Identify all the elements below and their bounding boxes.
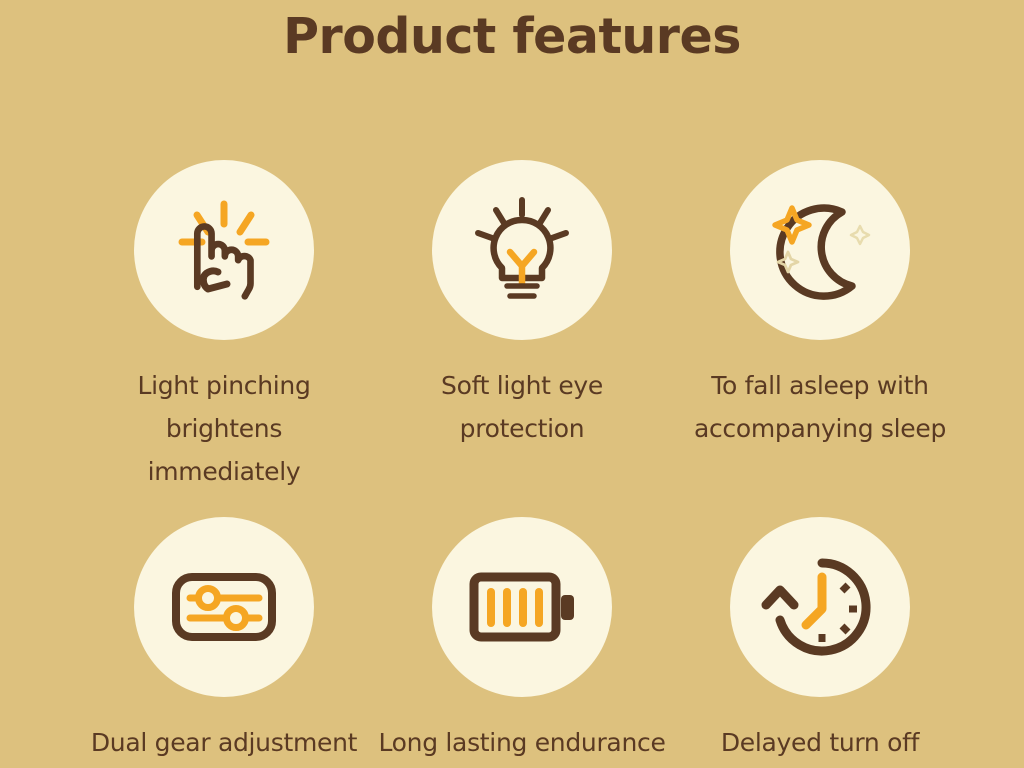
feature-item-touch-brighten: Light pinching brightens immediately [75, 160, 373, 493]
feature-item-delayed-off: Delayed turn off of light [671, 517, 969, 768]
sliders-settings-icon [164, 547, 284, 667]
feature-caption-line-2: immediately [79, 450, 369, 493]
feature-caption: To fall asleep with accompanying sleep [665, 364, 975, 450]
feature-caption-line-2: accompanying sleep [665, 407, 975, 450]
icon-circle [134, 517, 314, 697]
icon-circle [432, 517, 612, 697]
icon-circle [730, 160, 910, 340]
feature-item-sleep-aid: To fall asleep with accompanying sleep [671, 160, 969, 493]
features-row-top: Light pinching brightens immediately [0, 160, 1024, 493]
light-bulb-icon [462, 190, 582, 310]
feature-caption-line-1: Long lasting endurance [377, 721, 667, 764]
feature-caption-line-1: To fall asleep with [665, 364, 975, 407]
feature-caption-line-2: protection [377, 407, 667, 450]
clock-timer-arrow-icon [760, 547, 880, 667]
feature-caption-line-2: of light [675, 764, 965, 768]
product-features-page: Product features [0, 0, 1024, 768]
feature-caption-line-1: Dual gear adjustment [79, 721, 369, 764]
crescent-moon-stars-icon [760, 190, 880, 310]
feature-caption: Delayed turn off of light [675, 721, 965, 768]
pointing-hand-tap-icon [164, 190, 284, 310]
feature-caption: Long lasting endurance [377, 721, 667, 764]
features-row-bottom: Dual gear adjustment [0, 517, 1024, 768]
feature-caption: Light pinching brightens immediately [79, 364, 369, 493]
feature-caption-line-1: Soft light eye [377, 364, 667, 407]
icon-circle [432, 160, 612, 340]
feature-item-endurance: Long lasting endurance [373, 517, 671, 768]
feature-caption-line-1: Light pinching brightens [79, 364, 369, 450]
feature-caption: Soft light eye protection [377, 364, 667, 450]
icon-circle [730, 517, 910, 697]
page-title: Product features [0, 6, 1024, 68]
feature-item-dual-gear: Dual gear adjustment [75, 517, 373, 768]
battery-icon [462, 547, 582, 667]
feature-item-eye-protection: Soft light eye protection [373, 160, 671, 493]
features-grid: Light pinching brightens immediately [0, 160, 1024, 768]
icon-circle [134, 160, 314, 340]
feature-caption-line-1: Delayed turn off [675, 721, 965, 764]
feature-caption: Dual gear adjustment [79, 721, 369, 764]
